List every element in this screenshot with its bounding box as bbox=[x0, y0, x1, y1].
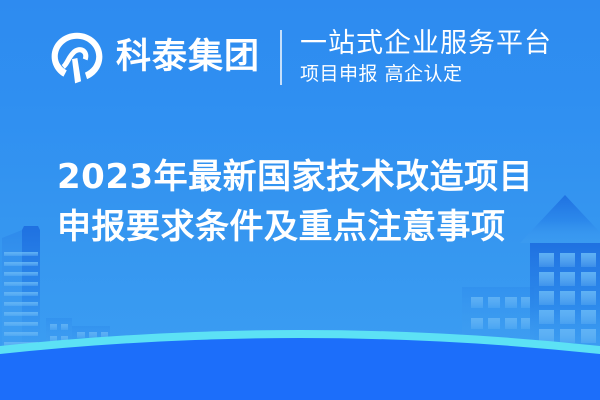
promo-banner: 科泰集团 一站式企业服务平台 项目申报 高企认定 2023年最新国家技术改造项目… bbox=[0, 0, 600, 400]
tagline-sub: 项目申报 高企认定 bbox=[300, 62, 552, 87]
banner-header: 科泰集团 一站式企业服务平台 项目申报 高企认定 bbox=[0, 0, 600, 115]
bottom-arc-decoration bbox=[0, 320, 600, 400]
page-title: 2023年最新国家技术改造项目申报要求条件及重点注意事项 bbox=[57, 152, 557, 253]
header-divider bbox=[280, 30, 282, 85]
brand-name: 科泰集团 bbox=[116, 40, 260, 75]
ketai-logo-icon bbox=[48, 30, 106, 88]
tagline-block: 一站式企业服务平台 项目申报 高企认定 bbox=[300, 29, 552, 87]
tagline-main: 一站式企业服务平台 bbox=[300, 29, 552, 59]
